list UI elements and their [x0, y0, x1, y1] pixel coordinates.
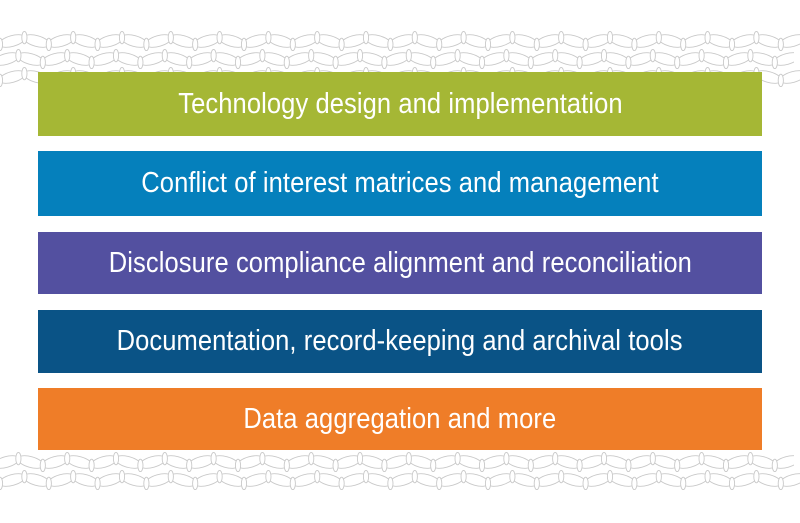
bar-label: Data aggregation and more [244, 405, 557, 434]
bar-item-documentation-record-keeping-and-archival-tools[interactable]: Documentation, record-keeping and archiv… [38, 310, 762, 373]
bar-label: Disclosure compliance alignment and reco… [108, 249, 691, 278]
bar-item-data-aggregation-and-more[interactable]: Data aggregation and more [38, 388, 762, 450]
bar-label: Conflict of interest matrices and manage… [141, 169, 658, 198]
chain-link-pattern-bottom-row-2 [0, 467, 800, 493]
slide-canvas: Technology design and implementation Con… [0, 0, 800, 523]
bar-label: Technology design and implementation [178, 90, 622, 119]
chain-link-pattern-top-row-1 [0, 28, 800, 54]
bar-label: Documentation, record-keeping and archiv… [117, 327, 683, 356]
bar-item-conflict-of-interest-matrices-and-management[interactable]: Conflict of interest matrices and manage… [38, 151, 762, 216]
bar-item-disclosure-compliance-alignment-and-reconciliation[interactable]: Disclosure compliance alignment and reco… [38, 232, 762, 294]
chain-link-pattern-top-row-2 [0, 46, 794, 72]
chain-link-pattern-bottom-row-1 [0, 449, 794, 475]
bar-item-technology-design-and-implementation[interactable]: Technology design and implementation [38, 72, 762, 136]
